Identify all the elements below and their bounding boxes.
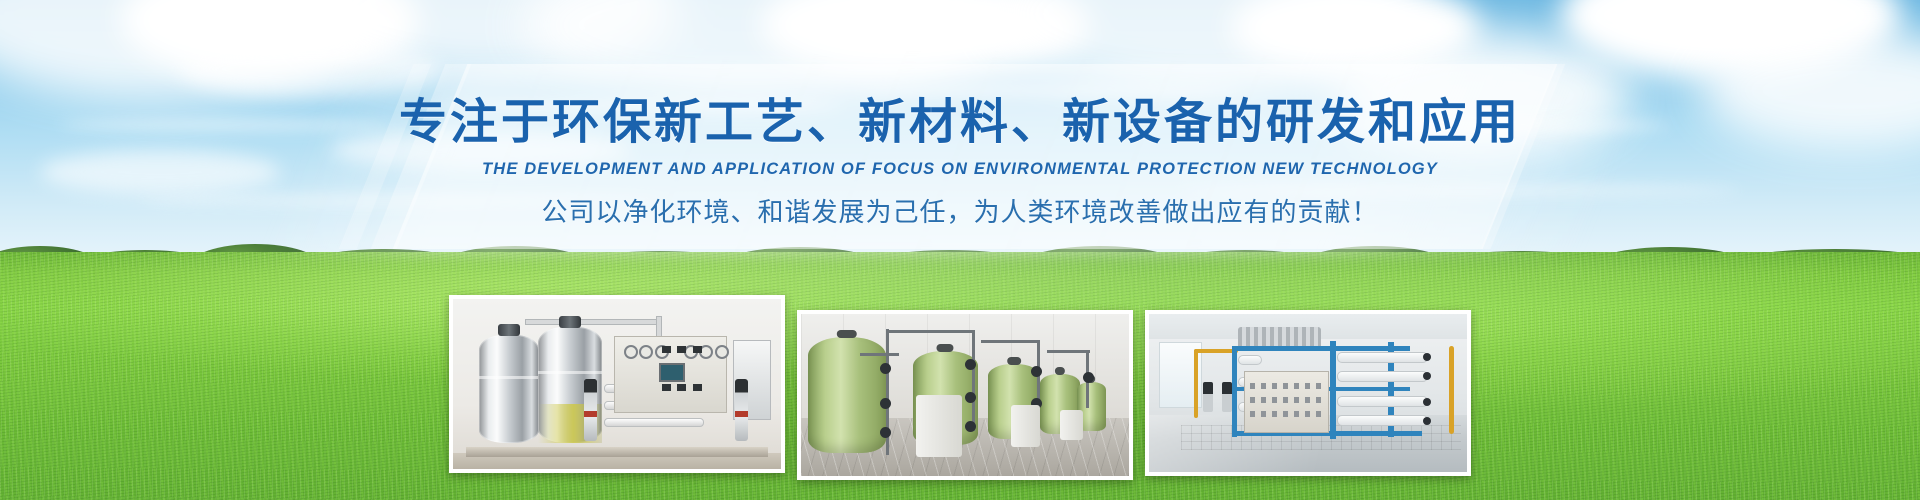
banner-tagline: 公司以净化环境、和谐发展为己任，为人类环境改善做出应有的贡献！ [541, 192, 1378, 229]
banner-title-english: THE DEVELOPMENT AND APPLICATION OF FOCUS… [482, 160, 1438, 179]
product-photo-strip [0, 240, 1920, 500]
product-photo-2[interactable] [797, 310, 1133, 480]
banner-title-main: 专注于环保新工艺、新材料、新设备的研发和应用 [399, 96, 1521, 149]
hero-banner: 专注于环保新工艺、新材料、新设备的研发和应用 THE DEVELOPMENT A… [0, 0, 1920, 500]
product-photo-3[interactable] [1145, 310, 1471, 476]
product-photo-1[interactable] [449, 295, 785, 473]
